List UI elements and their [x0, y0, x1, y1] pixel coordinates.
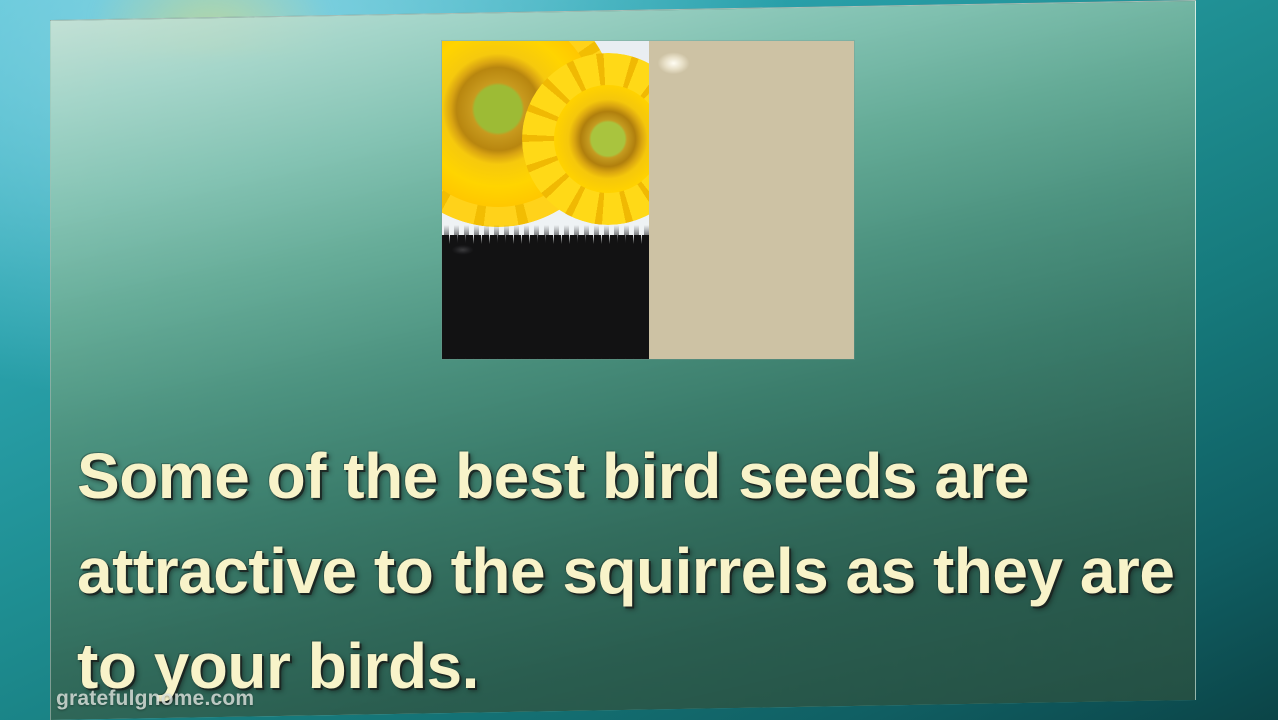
slide-panel-inner: Some of the best bird seeds are attracti… — [51, 21, 1195, 720]
slide-stage: Some of the best bird seeds are attracti… — [0, 0, 1278, 720]
seed-comparison-photo — [442, 41, 854, 359]
photo-right-hulled-seeds — [649, 41, 854, 359]
watermark: gratefulgnome.com — [56, 687, 254, 711]
slide-panel: Some of the best bird seeds are attracti… — [50, 0, 1196, 720]
caption-text: Some of the best bird seeds are attracti… — [77, 429, 1187, 714]
black-oil-sunflower-seeds — [442, 235, 649, 359]
photo-left-sunflowers — [442, 41, 649, 359]
